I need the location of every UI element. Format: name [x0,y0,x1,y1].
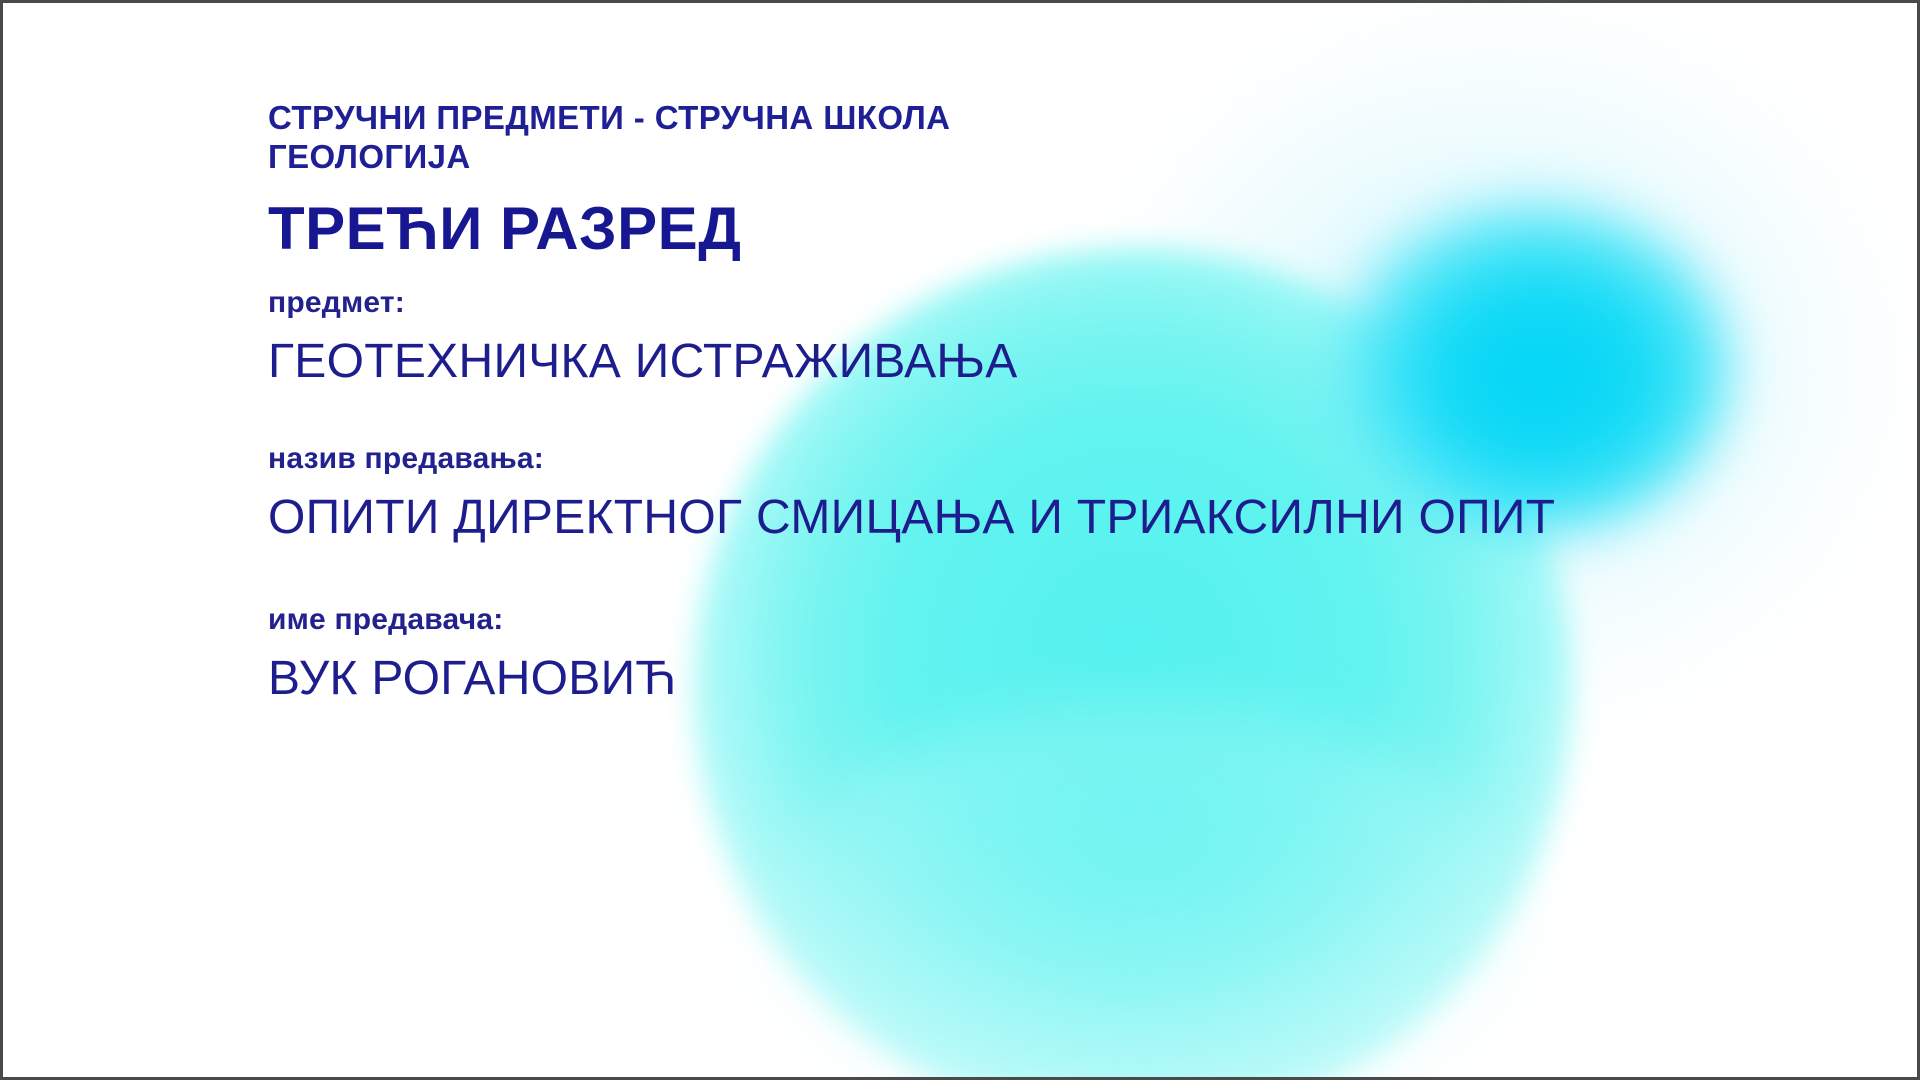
lecture-block: назив предавања: ОПИТИ ДИРЕКТНОГ СМИЦАЊА… [268,441,1877,545]
course-header: СТРУЧНИ ПРЕДМЕТИ - СТРУЧНА ШКОЛА ГЕОЛОГИ… [268,99,1877,177]
grade-title: ТРЕЋИ РАЗРЕД [268,199,1877,259]
slide-content: СТРУЧНИ ПРЕДМЕТИ - СТРУЧНА ШКОЛА ГЕОЛОГИ… [268,99,1877,706]
lecturer-value: ВУК РОГАНОВИЋ [268,652,1877,706]
slide-canvas: СТРУЧНИ ПРЕДМЕТИ - СТРУЧНА ШКОЛА ГЕОЛОГИ… [0,0,1920,1080]
lecture-value: ОПИТИ ДИРЕКТНОГ СМИЦАЊА И ТРИАКСИЛНИ ОПИ… [268,491,1877,545]
subject-value: ГЕОТЕХНИЧКА ИСТРАЖИВАЊА [268,335,1877,389]
lecture-label: назив предавања: [268,441,1877,477]
lecturer-block: име предавача: ВУК РОГАНОВИЋ [268,602,1877,706]
subject-label: предмет: [268,285,1877,321]
lecturer-label: име предавача: [268,602,1877,638]
lower-aqua-wash-blob [763,703,1523,1077]
subject-block: предмет: ГЕОТЕХНИЧКА ИСТРАЖИВАЊА [268,285,1877,389]
